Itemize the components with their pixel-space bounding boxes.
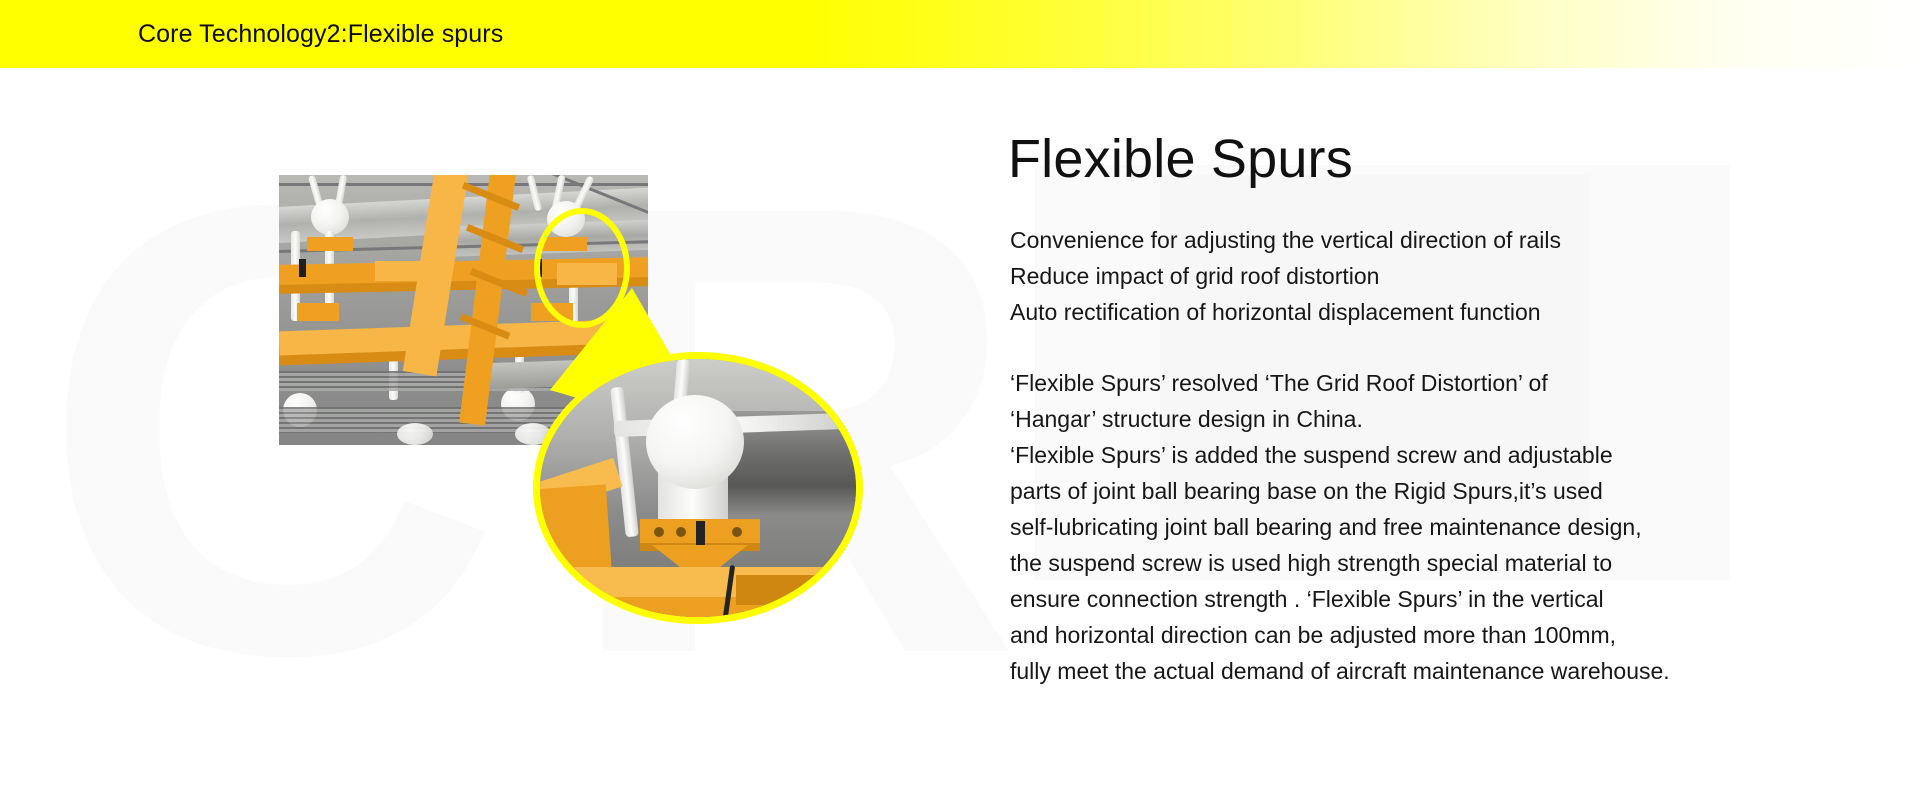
paragraph-line: ‘Flexible Spurs’ resolved ‘The Grid Roof…: [1010, 365, 1740, 401]
page-title: Flexible Spurs: [1008, 128, 1353, 190]
ball-insulator: [646, 395, 744, 489]
bullet-line: Auto rectification of horizontal displac…: [1010, 294, 1770, 330]
ball-insulator: [311, 199, 349, 235]
bolt: [299, 259, 306, 277]
paragraph-line: ‘Hangar’ structure design in China.: [1010, 401, 1740, 437]
bullet-line: Reduce impact of grid roof distortion: [1010, 258, 1770, 294]
bolt-hole: [776, 605, 790, 619]
trolley-bracket: [307, 237, 353, 251]
trolley-box: [375, 261, 435, 281]
clamp-block: [297, 303, 339, 321]
bolt-hole: [732, 527, 742, 537]
suspend-screw: [696, 521, 705, 547]
slide-canvas: C R Core Technology2:Flexible spurs: [0, 0, 1920, 800]
feature-bullet-list: Convenience for adjusting the vertical d…: [1010, 222, 1770, 330]
header-title: Core Technology2:Flexible spurs: [138, 20, 503, 49]
bullet-line: Convenience for adjusting the vertical d…: [1010, 222, 1770, 258]
bolt-hole: [654, 527, 664, 537]
paragraph-line: the suspend screw is used high strength …: [1010, 545, 1740, 581]
paragraph-line: and horizontal direction can be adjusted…: [1010, 617, 1740, 653]
paragraph-line: ‘Flexible Spurs’ is added the suspend sc…: [1010, 437, 1740, 473]
bolt-hole: [676, 527, 686, 537]
paragraph-line: fully meet the actual demand of aircraft…: [1010, 653, 1740, 689]
vent-disc: [397, 423, 433, 445]
description-paragraph: ‘Flexible Spurs’ resolved ‘The Grid Roof…: [1010, 365, 1740, 689]
paragraph-line: parts of joint ball bearing base on the …: [1010, 473, 1740, 509]
paragraph-line: self-lubricating joint ball bearing and …: [1010, 509, 1740, 545]
detail-zoom-ellipse: [533, 352, 863, 624]
paragraph-line: ensure connection strength . ‘Flexible S…: [1010, 581, 1740, 617]
